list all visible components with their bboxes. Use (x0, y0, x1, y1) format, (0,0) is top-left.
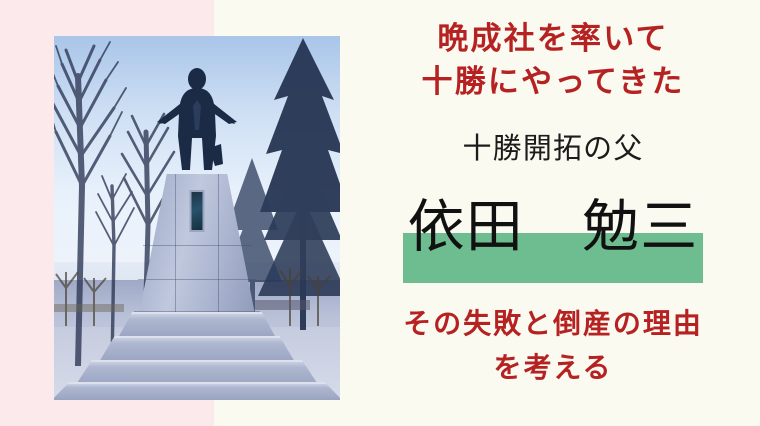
memorial-plaque (190, 190, 205, 232)
pedestal-seam-vertical (175, 174, 176, 312)
text-column: 晩成社を率いて 十勝にやってきた 十勝開拓の父 依田 勉三 その失敗と倒産の理由… (346, 0, 760, 426)
headline-top-line1: 晩成社を率いて (346, 20, 760, 58)
headline-top-line2: 十勝にやってきた (346, 63, 760, 101)
pedestal-seam (143, 245, 251, 246)
bronze-statue-icon (149, 66, 245, 178)
person-name: 依田 勉三 (346, 186, 760, 268)
pedestal-seam (134, 311, 260, 313)
banner-canvas: 晩成社を率いて 十勝にやってきた 十勝開拓の父 依田 勉三 その失敗と倒産の理由… (0, 0, 760, 426)
pedestal-step (118, 312, 276, 338)
headline-bottom-line2: を考える (346, 350, 760, 386)
statue-photo (54, 36, 340, 400)
photo-inner (54, 36, 340, 400)
subtitle: 十勝開拓の父 (346, 128, 760, 168)
pedestal-step (99, 336, 295, 362)
pedestal-step (54, 382, 340, 400)
headline-bottom-line1: その失敗と倒産の理由 (346, 306, 760, 342)
name-block: 依田 勉三 (346, 186, 760, 290)
pedestal-seam-vertical (218, 174, 219, 312)
pedestal-seam (138, 279, 256, 280)
